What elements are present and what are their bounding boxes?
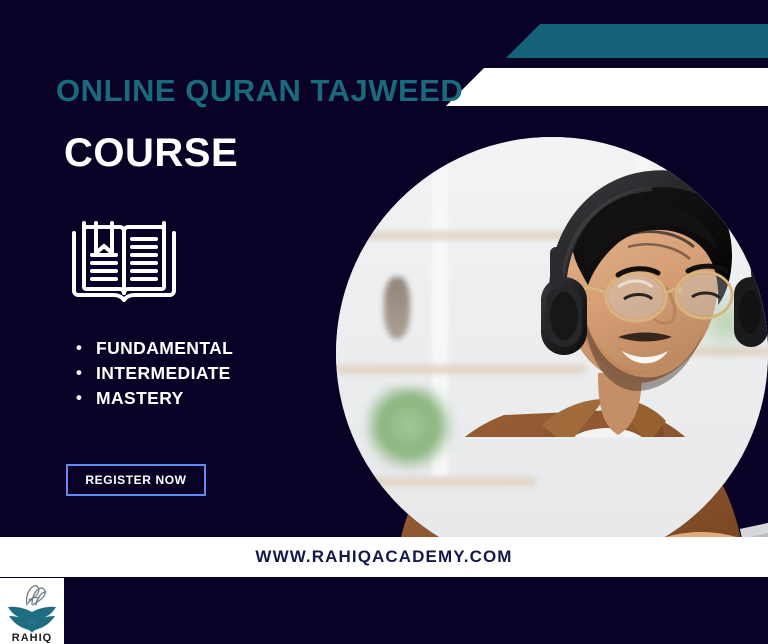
list-item: FUNDAMENTAL (72, 338, 233, 359)
register-now-button[interactable]: REGISTER NOW (66, 464, 206, 496)
decorative-bar-teal (506, 24, 768, 58)
open-book-icon (68, 213, 180, 305)
list-item: INTERMEDIATE (72, 363, 233, 384)
list-item: MASTERY (72, 388, 233, 409)
brand-logo[interactable]: RAHIQ (0, 578, 64, 644)
logo-text: RAHIQ (12, 632, 52, 643)
feature-list: FUNDAMENTAL INTERMEDIATE MASTERY (72, 338, 233, 413)
website-url[interactable]: WWW.RAHIQACADEMY.COM (255, 547, 512, 567)
page-title: ONLINE QURAN TAJWEED (56, 73, 463, 109)
website-url-band: WWW.RAHIQACADEMY.COM (0, 537, 768, 577)
bottom-background (0, 577, 768, 644)
page-subtitle: COURSE (64, 131, 238, 176)
logo-open-book-icon: RAHIQ (1, 579, 63, 643)
promo-poster: ONLINE QURAN TAJWEED COURSE FUNDAMENTAL … (0, 0, 768, 644)
photo-container (336, 137, 768, 577)
student-photo (336, 137, 768, 577)
decorative-bar-white (446, 68, 768, 106)
